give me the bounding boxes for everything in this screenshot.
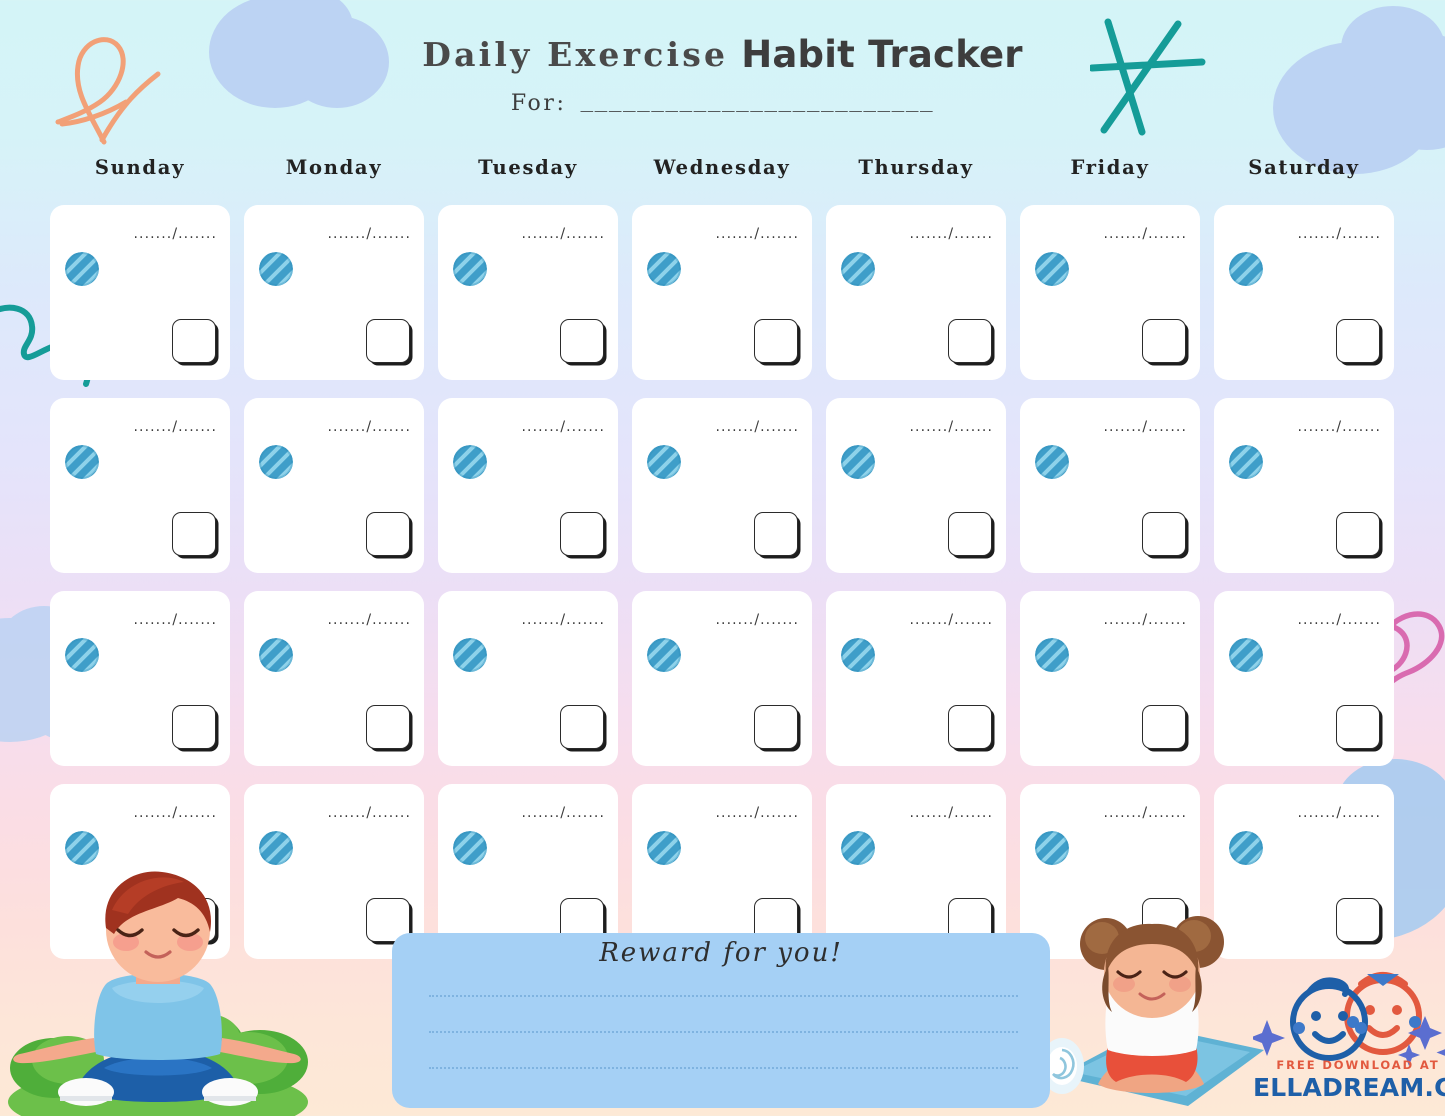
- habit-checkbox[interactable]: [948, 512, 992, 556]
- day-header-row: Sunday Monday Tuesday Wednesday Thursday…: [50, 156, 1395, 179]
- reward-write-in-lines[interactable]: [429, 995, 1018, 1103]
- date-write-in[interactable]: ......./.......: [715, 419, 799, 435]
- habit-checkbox[interactable]: [560, 512, 604, 556]
- habit-checkbox[interactable]: [1142, 319, 1186, 363]
- date-write-in[interactable]: ......./.......: [715, 612, 799, 628]
- tracker-cell[interactable]: ......./.......: [438, 205, 618, 380]
- tracker-cell[interactable]: ......./.......: [826, 591, 1006, 766]
- logo-website-text: ELLADREAM.COM: [1253, 1073, 1445, 1102]
- exercise-ball-icon: [841, 252, 875, 286]
- for-label: For:: [511, 91, 567, 116]
- habit-checkbox[interactable]: [1142, 705, 1186, 749]
- date-write-in[interactable]: ......./.......: [521, 226, 605, 242]
- reward-line[interactable]: [429, 1031, 1018, 1033]
- exercise-ball-icon: [453, 831, 487, 865]
- tracker-cell[interactable]: ......./.......: [1020, 784, 1200, 959]
- tracker-cell[interactable]: ......./.......: [632, 205, 812, 380]
- date-write-in[interactable]: ......./.......: [133, 805, 217, 821]
- exercise-ball-icon: [259, 252, 293, 286]
- tracker-row: ......./............../............../..…: [50, 205, 1395, 380]
- date-write-in[interactable]: ......./.......: [1103, 419, 1187, 435]
- habit-checkbox[interactable]: [1336, 319, 1380, 363]
- date-write-in[interactable]: ......./.......: [1103, 612, 1187, 628]
- date-write-in[interactable]: ......./.......: [909, 419, 993, 435]
- habit-checkbox[interactable]: [172, 319, 216, 363]
- tracker-cell[interactable]: ......./.......: [438, 398, 618, 573]
- date-write-in[interactable]: ......./.......: [327, 419, 411, 435]
- date-write-in[interactable]: ......./.......: [1297, 805, 1381, 821]
- reward-box[interactable]: Reward for you!: [392, 933, 1050, 1108]
- reward-line[interactable]: [429, 1067, 1018, 1069]
- date-write-in[interactable]: ......./.......: [327, 226, 411, 242]
- for-field[interactable]: For:_________________________: [0, 88, 1445, 116]
- reward-title: Reward for you!: [392, 938, 1050, 968]
- habit-checkbox[interactable]: [948, 705, 992, 749]
- exercise-ball-icon: [65, 638, 99, 672]
- page-title-part1: Daily Exercise: [422, 35, 728, 74]
- exercise-ball-icon: [65, 445, 99, 479]
- date-write-in[interactable]: ......./.......: [521, 419, 605, 435]
- exercise-ball-icon: [841, 831, 875, 865]
- tracker-cell[interactable]: ......./.......: [50, 591, 230, 766]
- habit-checkbox[interactable]: [560, 319, 604, 363]
- date-write-in[interactable]: ......./.......: [133, 612, 217, 628]
- exercise-ball-icon: [453, 252, 487, 286]
- date-write-in[interactable]: ......./.......: [521, 612, 605, 628]
- page-title: Daily ExerciseHabit Tracker: [0, 33, 1445, 76]
- day-header-tuesday: Tuesday: [438, 156, 618, 179]
- habit-checkbox[interactable]: [172, 512, 216, 556]
- for-write-in-rule[interactable]: _________________________: [581, 88, 935, 112]
- habit-checkbox[interactable]: [172, 898, 216, 942]
- exercise-ball-icon: [647, 445, 681, 479]
- tracker-cell[interactable]: ......./.......: [1214, 591, 1394, 766]
- habit-checkbox[interactable]: [1142, 512, 1186, 556]
- day-header-saturday: Saturday: [1214, 156, 1394, 179]
- tracker-cell[interactable]: ......./.......: [244, 398, 424, 573]
- date-write-in[interactable]: ......./.......: [327, 612, 411, 628]
- date-write-in[interactable]: ......./.......: [327, 805, 411, 821]
- date-write-in[interactable]: ......./.......: [521, 805, 605, 821]
- reward-line[interactable]: [429, 995, 1018, 997]
- date-write-in[interactable]: ......./.......: [1103, 805, 1187, 821]
- habit-checkbox[interactable]: [1336, 898, 1380, 942]
- elladream-logo[interactable]: FREE DOWNLOAD AT ELLADREAM.COM: [1253, 972, 1445, 1108]
- exercise-ball-icon: [259, 831, 293, 865]
- tracker-cell[interactable]: ......./.......: [826, 398, 1006, 573]
- tracker-cell[interactable]: ......./.......: [244, 591, 424, 766]
- exercise-ball-icon: [647, 638, 681, 672]
- tracker-cell[interactable]: ......./.......: [244, 784, 424, 959]
- date-write-in[interactable]: ......./.......: [1297, 419, 1381, 435]
- tracker-cell[interactable]: ......./.......: [1214, 784, 1394, 959]
- logo-free-download-text: FREE DOWNLOAD AT: [1269, 1058, 1445, 1072]
- date-write-in[interactable]: ......./.......: [909, 226, 993, 242]
- day-header-wednesday: Wednesday: [632, 156, 812, 179]
- exercise-ball-icon: [1035, 252, 1069, 286]
- habit-checkbox[interactable]: [754, 512, 798, 556]
- day-header-friday: Friday: [1020, 156, 1200, 179]
- exercise-ball-icon: [453, 445, 487, 479]
- tracker-cell[interactable]: ......./.......: [50, 398, 230, 573]
- exercise-ball-icon: [1229, 445, 1263, 479]
- exercise-ball-icon: [259, 638, 293, 672]
- tracker-cell[interactable]: ......./.......: [1214, 398, 1394, 573]
- habit-tracker-grid: ......./............../............../..…: [50, 205, 1395, 977]
- tracker-cell[interactable]: ......./.......: [438, 591, 618, 766]
- tracker-cell[interactable]: ......./.......: [50, 205, 230, 380]
- tracker-cell[interactable]: ......./.......: [632, 591, 812, 766]
- date-write-in[interactable]: ......./.......: [1103, 226, 1187, 242]
- exercise-ball-icon: [841, 445, 875, 479]
- tracker-cell[interactable]: ......./.......: [632, 398, 812, 573]
- tracker-cell[interactable]: ......./.......: [50, 784, 230, 959]
- habit-checkbox[interactable]: [754, 705, 798, 749]
- habit-checkbox[interactable]: [754, 319, 798, 363]
- date-write-in[interactable]: ......./.......: [1297, 612, 1381, 628]
- exercise-ball-icon: [1229, 831, 1263, 865]
- page-header: Daily ExerciseHabit Tracker For:________…: [0, 0, 1445, 116]
- exercise-ball-icon: [1229, 252, 1263, 286]
- tracker-row: ......./............../............../..…: [50, 591, 1395, 766]
- exercise-ball-icon: [647, 831, 681, 865]
- date-write-in[interactable]: ......./.......: [909, 805, 993, 821]
- date-write-in[interactable]: ......./.......: [909, 612, 993, 628]
- habit-checkbox[interactable]: [172, 705, 216, 749]
- exercise-ball-icon: [1035, 831, 1069, 865]
- habit-checkbox[interactable]: [366, 512, 410, 556]
- habit-checkbox[interactable]: [1142, 898, 1186, 942]
- date-write-in[interactable]: ......./.......: [133, 419, 217, 435]
- day-header-monday: Monday: [244, 156, 424, 179]
- exercise-ball-icon: [1035, 638, 1069, 672]
- tracker-cell[interactable]: ......./.......: [1020, 205, 1200, 380]
- page-title-part2: Habit Tracker: [741, 33, 1023, 76]
- habit-checkbox[interactable]: [1336, 705, 1380, 749]
- exercise-ball-icon: [65, 252, 99, 286]
- exercise-ball-icon: [259, 445, 293, 479]
- exercise-ball-icon: [65, 831, 99, 865]
- tracker-cell[interactable]: ......./.......: [244, 205, 424, 380]
- date-write-in[interactable]: ......./.......: [1297, 226, 1381, 242]
- tracker-cell[interactable]: ......./.......: [1020, 398, 1200, 573]
- exercise-ball-icon: [1035, 445, 1069, 479]
- habit-checkbox[interactable]: [560, 705, 604, 749]
- exercise-ball-icon: [841, 638, 875, 672]
- exercise-ball-icon: [1229, 638, 1263, 672]
- day-header-sunday: Sunday: [50, 156, 230, 179]
- habit-checkbox[interactable]: [366, 705, 410, 749]
- day-header-thursday: Thursday: [826, 156, 1006, 179]
- date-write-in[interactable]: ......./.......: [133, 226, 217, 242]
- date-write-in[interactable]: ......./.......: [715, 226, 799, 242]
- habit-checkbox[interactable]: [1336, 512, 1380, 556]
- exercise-ball-icon: [647, 252, 681, 286]
- tracker-row: ......./............../............../..…: [50, 398, 1395, 573]
- date-write-in[interactable]: ......./.......: [715, 805, 799, 821]
- tracker-cell[interactable]: ......./.......: [1020, 591, 1200, 766]
- habit-checkbox[interactable]: [366, 319, 410, 363]
- habit-checkbox[interactable]: [948, 319, 992, 363]
- tracker-cell[interactable]: ......./.......: [1214, 205, 1394, 380]
- exercise-ball-icon: [453, 638, 487, 672]
- tracker-cell[interactable]: ......./.......: [826, 205, 1006, 380]
